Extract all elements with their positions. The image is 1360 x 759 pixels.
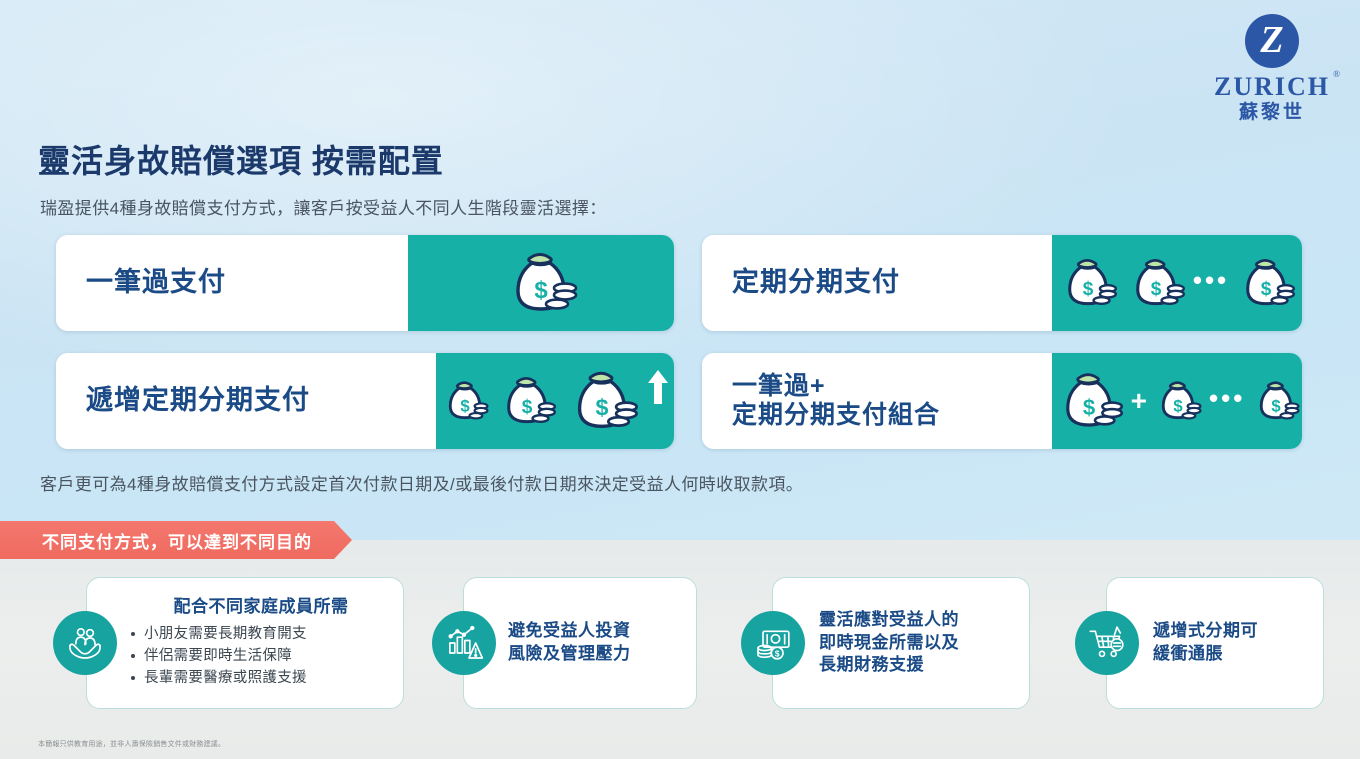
option-art-increasing: $ $ $ (436, 353, 674, 449)
benefit-title-inflation-buffer: 遞增式分期可 緩衝通脹 (1153, 620, 1315, 666)
benefit-title-line: 緩衝通脹 (1153, 643, 1315, 666)
plus-icon: + (1131, 387, 1147, 415)
zurich-wordmark: ZURICH® (1214, 74, 1330, 100)
option-art-lump-sum: $ (408, 235, 674, 331)
option-label-combo-line-2: 定期分期支付組合 (732, 401, 940, 431)
svg-text:$: $ (460, 396, 470, 415)
slide-root: Z ZURICH® 蘇黎世 靈活身故賠償選項 按需配置 瑞盈提供4種身故賠償支付… (0, 0, 1360, 759)
benefit-title-line: 避免受益人投資 (508, 620, 688, 643)
benefit-title-cash-flexibility: 靈活應對受益人的 即時現金所需以及 長期財務支援 (819, 609, 1021, 678)
benefit-title-line: 風險及管理壓力 (508, 643, 688, 666)
zurich-z-letter: Z (1245, 21, 1299, 59)
zurich-wordmark-text: ZURICH (1214, 72, 1330, 101)
benefit-title-investment-risk: 避免受益人投資 風險及管理壓力 (508, 620, 688, 666)
arrow-up-icon (646, 368, 670, 408)
money-bag-icon: $ (502, 246, 580, 320)
option-label-combo: 一筆過+ 定期分期支付組合 (702, 353, 1052, 449)
money-bag-icon: $ (1053, 365, 1125, 437)
benefit-card-inflation-buffer[interactable]: 遞增式分期可 緩衝通脹 (1106, 577, 1324, 709)
money-bag-icon: $ (1153, 376, 1203, 426)
benefit-title-family-needs: 配合不同家庭成員所需 (129, 596, 393, 619)
option-art-periodic: $ $ ••• $ (1052, 235, 1302, 331)
svg-text:$: $ (1272, 396, 1282, 415)
list-item: 小朋友需要長期教育開支 (129, 623, 393, 645)
money-bag-icon: $ (440, 376, 490, 426)
registered-icon: ® (1333, 70, 1340, 79)
option-label-combo-line-1: 一筆過+ (732, 372, 940, 402)
ellipsis-icon: ••• (1209, 385, 1245, 417)
payment-date-note: 客戶更可為4種身故賠償支付方式設定首次付款日期及/或最後付款日期來決定受益人何時… (40, 470, 803, 495)
svg-text:$: $ (1083, 279, 1094, 300)
option-card-increasing[interactable]: 遞增定期分期支付 $ $ $ (56, 353, 674, 449)
money-bag-icon: $ (1057, 252, 1119, 314)
svg-text:$: $ (1261, 279, 1272, 300)
option-label-periodic: 定期分期支付 (702, 235, 1052, 331)
benefit-title-line: 靈活應對受益人的 (819, 609, 1021, 632)
section-ribbon-banner: 不同支付方式，可以達到不同目的 (0, 521, 352, 559)
zurich-logo: Z ZURICH® 蘇黎世 (1212, 14, 1332, 122)
svg-text:$: $ (1082, 395, 1094, 420)
money-bag-icon: $ (1125, 252, 1187, 314)
option-card-combo[interactable]: 一筆過+ 定期分期支付組合 $ + $ ••• (702, 353, 1302, 449)
benefit-body-family-needs: 配合不同家庭成員所需 小朋友需要長期教育開支 伴侶需要即時生活保障 長輩需要醫療… (129, 578, 393, 708)
footer-disclaimer: 本簡報只供教育用途，並非人壽保險銷售文件或財務建議。 (38, 739, 225, 749)
benefit-title-line: 遞增式分期可 (1153, 620, 1315, 643)
benefit-body-investment-risk: 避免受益人投資 風險及管理壓力 (508, 578, 688, 708)
banknote-coins-icon: $ (741, 611, 805, 675)
benefit-card-family-needs[interactable]: 配合不同家庭成員所需 小朋友需要長期教育開支 伴侶需要即時生活保障 長輩需要醫療… (86, 577, 404, 709)
benefit-bullets-family-needs: 小朋友需要長期教育開支 伴侶需要即時生活保障 長輩需要醫療或照護支援 (129, 623, 393, 689)
benefit-title-line: 長期財務支援 (819, 654, 1021, 677)
money-bag-icon: $ (564, 363, 640, 439)
zurich-mark-icon: Z (1245, 14, 1299, 68)
option-card-lump-sum[interactable]: 一筆過支付 $ (56, 235, 674, 331)
option-label-lump-sum: 一筆過支付 (56, 235, 408, 331)
svg-text:$: $ (1173, 396, 1183, 415)
page-title: 靈活身故賠償選項 按需配置 (38, 136, 444, 182)
shopping-cart-icon (1075, 611, 1139, 675)
money-bag-icon: $ (1235, 252, 1297, 314)
money-bag-icon: $ (1251, 376, 1301, 426)
svg-text:$: $ (775, 648, 780, 658)
money-bag-icon: $ (496, 370, 558, 432)
list-item: 伴侶需要即時生活保障 (129, 645, 393, 667)
benefit-card-cash-flexibility[interactable]: $ 靈活應對受益人的 即時現金所需以及 長期財務支援 (772, 577, 1030, 709)
chart-warning-icon (432, 611, 496, 675)
benefit-body-inflation-buffer: 遞增式分期可 緩衝通脹 (1153, 578, 1315, 708)
ellipsis-icon: ••• (1193, 267, 1229, 299)
svg-text:$: $ (522, 397, 533, 418)
list-item: 長輩需要醫療或照護支援 (129, 667, 393, 689)
benefit-card-investment-risk[interactable]: 避免受益人投資 風險及管理壓力 (463, 577, 697, 709)
svg-text:$: $ (534, 277, 548, 304)
family-in-hands-icon (53, 611, 117, 675)
benefit-title-line: 即時現金所需以及 (819, 632, 1021, 655)
zurich-chinese-name: 蘇黎世 (1212, 103, 1332, 122)
option-art-combo: $ + $ ••• $ (1052, 353, 1302, 449)
page-subtitle: 瑞盈提供4種身故賠償支付方式，讓客戶按受益人不同人生階段靈活選擇： (40, 194, 607, 219)
option-label-increasing: 遞增定期分期支付 (56, 353, 436, 449)
option-card-periodic[interactable]: 定期分期支付 $ $ ••• $ (702, 235, 1302, 331)
svg-text:$: $ (595, 395, 608, 421)
svg-text:$: $ (1151, 279, 1162, 300)
benefit-body-cash-flexibility: 靈活應對受益人的 即時現金所需以及 長期財務支援 (819, 578, 1021, 708)
